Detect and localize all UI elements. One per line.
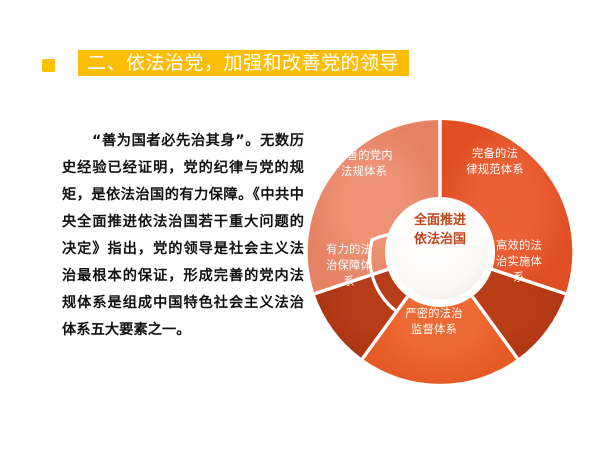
body-paragraph: “善为国者必先治其身”。无数历史经验已经证明，党的纪律与党的规矩，是依法治国的有… <box>62 128 304 344</box>
page-title: 二、依法治党，加强和改善党的领导 <box>87 54 399 73</box>
donut-chart-svg <box>300 112 580 392</box>
slide-title-row: 二、依法治党，加强和改善党的领导 <box>0 50 600 76</box>
donut-hub <box>393 205 488 300</box>
square-bullet-icon <box>42 59 55 72</box>
title-highlight-band: 二、依法治党，加强和改善党的领导 <box>78 50 409 76</box>
donut-chart: 完善的党内 法规体系 完备的法 律规范体系 高效的法 治实施体 系 严密的法治 … <box>300 112 580 392</box>
slide-canvas: 二、依法治党，加强和改善党的领导 “善为国者必先治其身”。无数历史经验已经证明，… <box>0 0 600 450</box>
